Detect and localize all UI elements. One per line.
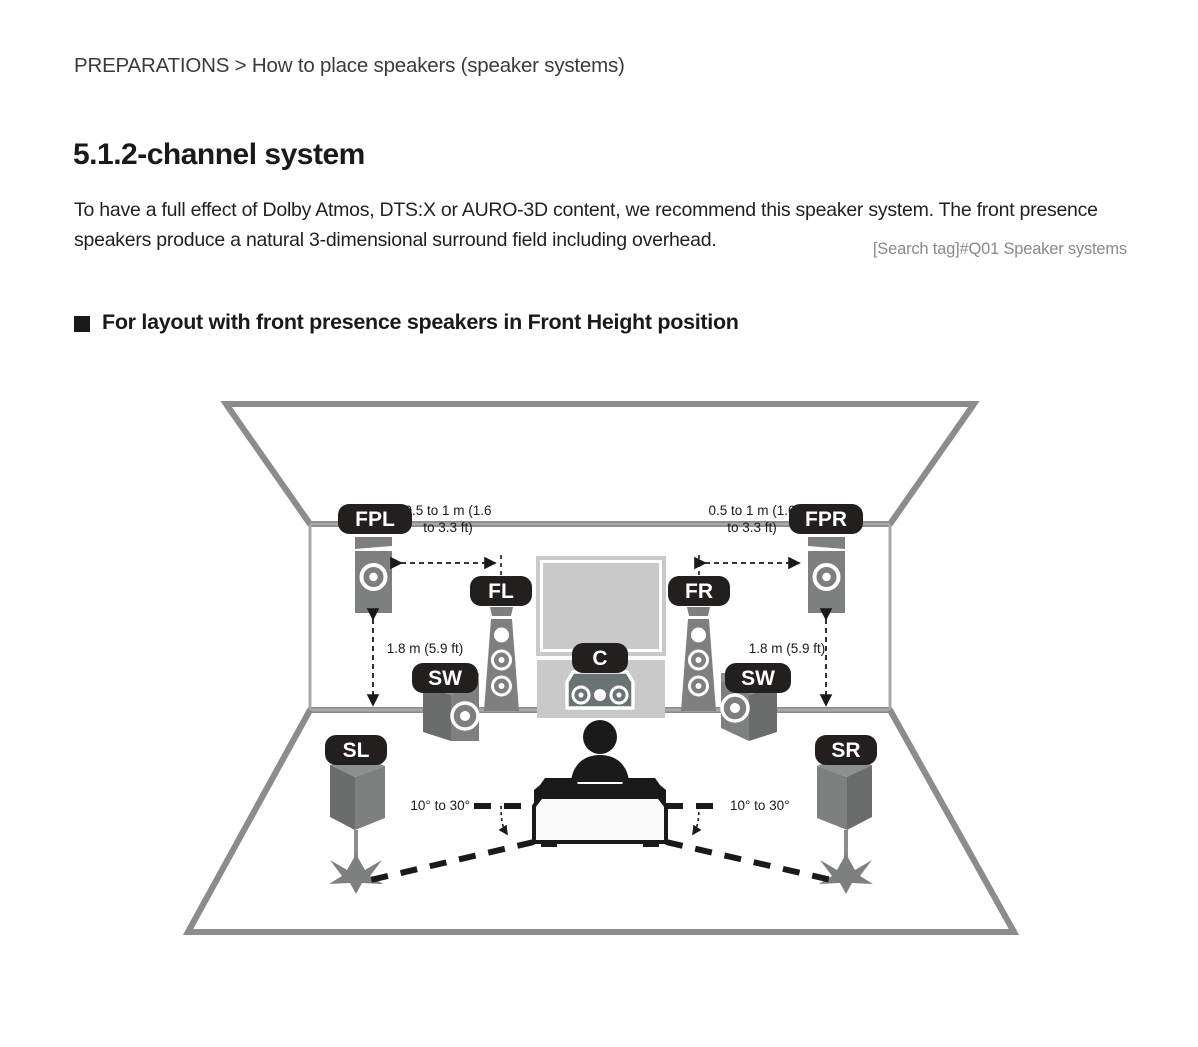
speaker-layout-diagram: 0.5 to 1 m (1.6 to 3.3 ft) 0.5 to 1 m (1… (0, 360, 1198, 980)
label-sr: SR (815, 735, 877, 765)
label-c: C (572, 643, 628, 673)
label-sl-text: SL (343, 739, 370, 762)
dim-horizontal-right-line1: 0.5 to 1 m (1.6 (708, 503, 795, 518)
listener-and-sofa (534, 720, 666, 847)
center-speaker (567, 672, 633, 708)
label-sw-right-text: SW (741, 667, 775, 690)
surround-right-speaker (817, 755, 873, 894)
manual-page: PREPARATIONS > How to place speakers (sp… (0, 0, 1198, 1047)
breadcrumb: PREPARATIONS > How to place speakers (sp… (74, 54, 625, 78)
dim-angle-left: 10° to 30° (410, 798, 470, 813)
label-c-text: C (592, 647, 607, 670)
label-fpl-text: FPL (355, 508, 395, 531)
front-presence-right-speaker (808, 537, 845, 613)
front-left-speaker (484, 607, 519, 711)
dim-vertical-right: 1.8 m (5.9 ft) (749, 641, 826, 656)
label-sr-text: SR (831, 739, 860, 762)
page-title: 5.1.2-channel system (73, 138, 365, 172)
label-fr-text: FR (685, 580, 713, 603)
front-right-speaker (681, 607, 716, 711)
section-heading-label: For layout with front presence speakers … (102, 310, 739, 335)
label-sl: SL (325, 735, 387, 765)
label-fl: FL (470, 576, 532, 606)
label-fpr-text: FPR (805, 508, 847, 531)
label-fl-text: FL (488, 580, 514, 603)
label-fr: FR (668, 576, 730, 606)
dim-horizontal-left-line2: to 3.3 ft) (423, 520, 473, 535)
dim-angle-right: 10° to 30° (730, 798, 790, 813)
dim-horizontal-left-line1: 0.5 to 1 m (1.6 (404, 503, 491, 518)
section-heading: For layout with front presence speakers … (74, 310, 739, 335)
square-bullet-icon (74, 316, 90, 332)
label-fpr: FPR (789, 504, 863, 534)
front-presence-left-speaker (355, 537, 392, 613)
label-sw-left: SW (412, 663, 478, 693)
dim-horizontal-right-line2: to 3.3 ft) (727, 520, 777, 535)
label-sw-right: SW (725, 663, 791, 693)
label-fpl: FPL (338, 504, 412, 534)
label-sw-left-text: SW (428, 667, 462, 690)
dim-vertical-left: 1.8 m (5.9 ft) (387, 641, 464, 656)
search-tag: [Search tag]#Q01 Speaker systems (873, 240, 1127, 259)
surround-left-speaker (329, 755, 385, 894)
